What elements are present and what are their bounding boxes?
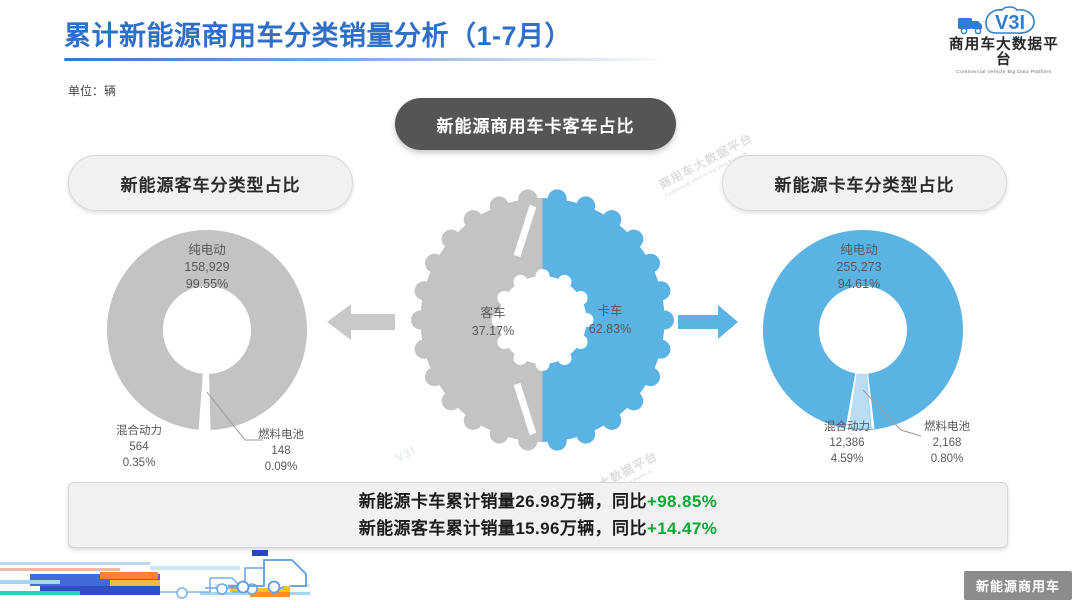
truck-hybrid-name: 混合动力: [824, 419, 870, 433]
footer-decoration: [0, 536, 420, 608]
truck-fuelcell-name: 燃料电池: [924, 419, 970, 433]
gear-bus-name: 客车: [480, 305, 505, 320]
donut-truck-label-fuelcell: 燃料电池 2,168 0.80%: [924, 419, 970, 465]
page-title: 累计新能源商用车分类销量分析（1-7月）: [64, 14, 572, 53]
summary-bus-growth: +14.47%: [647, 519, 717, 538]
summary-truck-growth: +98.85%: [647, 492, 717, 511]
speed-truck-icon: [0, 536, 420, 608]
pill-truck-label: 新能源卡车分类型占比: [775, 171, 955, 196]
chart-truck-types: 纯电动 255,273 94.61% 混合动力 12,386 4.59% 燃料电…: [735, 222, 995, 477]
bus-ev-count: 158,929: [184, 260, 229, 274]
chart-bus-types: 纯电动 158,929 99.55% 混合动力 564 0.35% 燃料电池 1…: [95, 222, 355, 477]
bus-ev-percent: 99.55%: [186, 277, 228, 291]
truck-hybrid-percent: 4.59%: [831, 453, 864, 465]
truck-icon: [958, 18, 982, 34]
bus-hybrid-count: 564: [129, 441, 149, 453]
brand-logo: V3I 商用车大数据平台 Commercial Vehicle Big Data…: [942, 5, 1066, 61]
donut-truck-label-ev: 纯电动 255,273 94.61%: [836, 243, 881, 291]
gear-truck-name: 卡车: [597, 303, 622, 318]
pill-center-label: 新能源商用车卡客车占比: [437, 112, 635, 137]
arrow-right-icon: [678, 302, 740, 347]
unit-label: 单位：辆: [68, 82, 116, 99]
bus-hybrid-name: 混合动力: [116, 423, 162, 437]
pill-bus-title[interactable]: 新能源客车分类型占比: [68, 155, 353, 211]
truck-fuelcell-percent: 0.80%: [931, 453, 964, 465]
logo-mark-icon: V3I: [942, 5, 1066, 39]
donut-truck-label-hybrid: 混合动力 12,386 4.59%: [824, 419, 870, 465]
truck-ev-name: 纯电动: [840, 243, 878, 257]
truck-hybrid-count: 12,386: [829, 437, 864, 449]
summary-line-truck: 新能源卡车累计销量26.98万辆，同比+98.85%: [359, 488, 718, 515]
bus-ev-name: 纯电动: [188, 243, 226, 257]
bus-fuelcell-name: 燃料电池: [258, 427, 304, 441]
truck-ev-count: 255,273: [836, 260, 881, 274]
chart-center-gear: 客车 37.17% 卡车 62.83%: [405, 160, 680, 480]
summary-truck-text: 新能源卡车累计销量26.98万辆，同比: [359, 492, 647, 511]
gear-truck-percent: 62.83%: [589, 322, 631, 336]
pill-truck-title[interactable]: 新能源卡车分类型占比: [722, 155, 1007, 211]
truck-fuelcell-count: 2,168: [933, 437, 962, 449]
gear-bus-percent: 37.17%: [472, 324, 514, 338]
pill-center-title[interactable]: 新能源商用车卡客车占比: [395, 98, 676, 150]
pill-bus-label: 新能源客车分类型占比: [121, 171, 301, 196]
footer-badge: 新能源商用车: [964, 571, 1072, 600]
truck-ev-percent: 94.61%: [838, 277, 880, 291]
antenna-icon: [252, 550, 268, 556]
donut-bus-label-hybrid: 混合动力 564 0.35%: [116, 423, 162, 469]
logo-wordmark: V3I: [995, 12, 1025, 34]
donut-bus-label-fuelcell: 燃料电池 148 0.09%: [258, 427, 304, 473]
title-underline-rule: [64, 58, 672, 61]
bus-hybrid-percent: 0.35%: [123, 457, 156, 469]
bus-fuelcell-percent: 0.09%: [265, 461, 298, 473]
arrow-left-icon: [325, 300, 397, 349]
logo-name-en: Commercial Vehicle Big Data Platform: [943, 69, 1065, 75]
logo-name-cn: 商用车大数据平台: [942, 38, 1066, 68]
bus-fuelcell-count: 148: [271, 445, 290, 457]
donut-bus-label-ev: 纯电动 158,929 99.55%: [184, 243, 229, 291]
